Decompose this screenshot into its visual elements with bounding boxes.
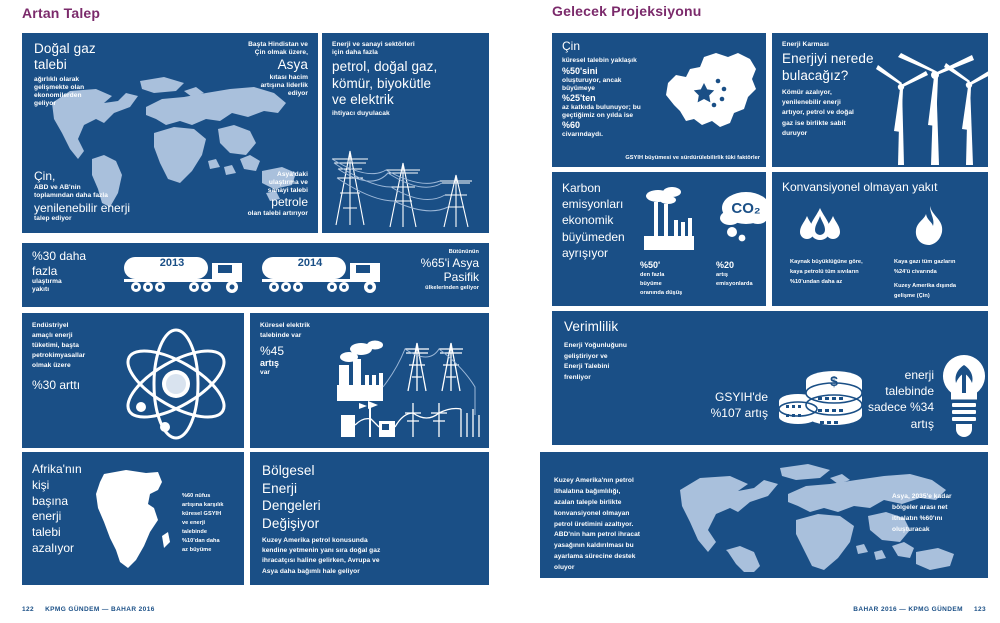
infographic-page: Artan Talep Gelecek Projeksiyonu bbox=[0, 0, 1000, 623]
china-line1: Çin, bbox=[34, 169, 194, 184]
china-proj-l6: civarındaydı. bbox=[562, 131, 672, 139]
china-proj-caption: GSYIH büyümesi ve sürdürülebilirlik tüki… bbox=[600, 155, 760, 162]
footer-right-page: 123 bbox=[974, 606, 986, 613]
pylons-post: ihtiyacı duyulacak bbox=[332, 110, 482, 118]
asia-oil-post: olan talebi artırıyor bbox=[198, 210, 308, 218]
panel-world-map-demand: Doğal gaz talebi ağırlıklı olarak gelişm… bbox=[22, 33, 318, 233]
carbon-stat1-value: %50' bbox=[640, 260, 714, 271]
panel-regional-balance: Bölgesel Enerji Dengeleri Değişiyor Kuze… bbox=[250, 452, 489, 585]
unconventional-title: Konvansiyonel olmayan yakıt bbox=[782, 180, 982, 195]
panel-industrial-energy: Endüstriyel amaçlı enerji tüketimi, başt… bbox=[22, 313, 244, 448]
unconventional-right-body1: Kaya gazı tüm gazların %24'ü civarında bbox=[894, 258, 988, 278]
footer-left-text: KPMG GÜNDEM — BAHAR 2016 bbox=[45, 606, 155, 613]
text-gas-demand: Doğal gaz talebi ağırlıklı olarak gelişm… bbox=[34, 41, 164, 108]
carbon-stat2-sub: artış emisyonlarda bbox=[716, 271, 766, 289]
china-proj-l4: az katkıda bulunuyor; bu bbox=[562, 104, 672, 112]
asia-pre: Başta Hindistan ve Çin olmak üzere, bbox=[188, 41, 308, 57]
oil-drop-icon bbox=[798, 206, 842, 246]
footer-left-page: 122 bbox=[22, 606, 34, 613]
factory-smoke-icon bbox=[640, 186, 700, 262]
panel-carbon-emissions: Karbon emisyonları ekonomik büyümeden ay… bbox=[552, 172, 766, 306]
panel-energy-mix: Enerji Karması Enerjiyi nerede bulacağız… bbox=[772, 33, 988, 167]
footer-left: 122 KPMG GÜNDEM — BAHAR 2016 bbox=[22, 606, 155, 613]
carbon-stat-1: %50' den fazla büyüme oranında düşüş bbox=[640, 260, 714, 298]
lightbulb-icon bbox=[940, 353, 988, 435]
energy-mix-body: Kömür azalıyor, yenilenebilir enerji art… bbox=[782, 88, 887, 139]
china-sub1: ABD ve AB'nin toplamından daha fazla bbox=[34, 184, 194, 200]
unconventional-right-body2: Kuzey Amerika dışında gelişme (Çin) bbox=[894, 282, 988, 302]
co2-cloud-icon: CO₂ bbox=[720, 188, 766, 254]
wind-turbines-icon bbox=[880, 39, 988, 167]
energy-mix-eyebrow: Enerji Karması bbox=[782, 41, 887, 49]
factory-grid-icon bbox=[335, 329, 483, 441]
text-energy-mix: Enerji Karması Enerjiyi nerede bulacağız… bbox=[782, 41, 887, 139]
pylons-pre: Enerji ve sanayi sektörleri için daha fa… bbox=[332, 41, 482, 57]
text-transport-left: %30 daha fazla ulaştırma yakıtı bbox=[32, 249, 122, 294]
bottom-map-left-body: Kuzey Amerika'nın petrol ithalatına bağı… bbox=[554, 476, 672, 574]
footer-right: BAHAR 2016 — KPMG GÜNDEM 123 bbox=[853, 606, 986, 613]
china-proj-l3: büyümeye bbox=[562, 85, 672, 93]
section-title-right: Gelecek Projeksiyonu bbox=[552, 3, 702, 19]
electricity-sub-top: Küresel elektrik talebinde var bbox=[260, 321, 338, 341]
efficiency-gdp-label: GSYIH'de %107 artış bbox=[662, 389, 768, 421]
electricity-sub-bottom: var bbox=[260, 369, 338, 377]
asia-oil-big: petrole bbox=[198, 195, 308, 210]
text-asia-oil: Asya'daki ulaştırma ve sanayi talebi pet… bbox=[198, 171, 308, 218]
power-pylons-icon bbox=[328, 133, 486, 229]
carbon-stat1-sub: den fazla büyüme oranında düşüş bbox=[640, 271, 714, 298]
china-sub2: talep ediyor bbox=[34, 215, 194, 223]
electricity-mid: artış bbox=[260, 358, 338, 369]
gas-demand-line1: Doğal gaz bbox=[34, 41, 164, 57]
china-proj-l1: küresel talebin yaklaşık bbox=[562, 57, 672, 65]
panel-china-projection: Çin küresel talebin yaklaşık %50'sini ol… bbox=[552, 33, 766, 167]
africa-note: %60 nüfus artışına karşılık küresel GSYI… bbox=[182, 492, 242, 555]
china-proj-title: Çin bbox=[562, 39, 672, 54]
energy-mix-big: Enerjiyi nerede bulacağız? bbox=[782, 51, 887, 84]
text-pylons: Enerji ve sanayi sektörleri için daha fa… bbox=[332, 41, 482, 119]
electricity-big: %45 bbox=[260, 344, 338, 359]
text-china-renewable: Çin, ABD ve AB'nin toplamından daha fazl… bbox=[34, 169, 194, 223]
africa-map-icon bbox=[92, 464, 178, 576]
industrial-big: %30 arttı bbox=[32, 378, 117, 393]
footer-right-text: BAHAR 2016 — KPMG GÜNDEM bbox=[853, 606, 963, 613]
text-asia: Başta Hindistan ve Çin olmak üzere, Asya… bbox=[188, 41, 308, 98]
section-title-left: Artan Talep bbox=[22, 5, 100, 21]
atom-icon bbox=[117, 329, 235, 439]
panel-africa: Afrika'nın kişi başına enerji talebi aza… bbox=[22, 452, 244, 585]
asia-pacific-sub-top: Bütününün bbox=[349, 249, 479, 256]
unconventional-left-body: Kaynak büyüklüğüne göre, kaya petrolü tü… bbox=[790, 258, 885, 287]
co2-label: CO₂ bbox=[731, 200, 760, 217]
pylons-big: petrol, doğal gaz, kömür, biyokütle ve e… bbox=[332, 59, 482, 108]
text-electricity: Küresel elektrik talebinde var %45 artış… bbox=[260, 321, 338, 377]
gas-demand-sub: ağırlıklı olarak gelişmekte olan ekonomi… bbox=[34, 76, 164, 108]
china-proj-l5: geçtiğimiz on yılda ise bbox=[562, 112, 672, 120]
carbon-stat-2: %20 artış emisyonlarda bbox=[716, 260, 766, 289]
panel-unconventional-fuel: Konvansiyonel olmayan yakıt Kaynak büyük… bbox=[772, 172, 988, 306]
transport-big: %30 daha fazla bbox=[32, 249, 122, 278]
asia-big: Asya bbox=[188, 57, 308, 73]
text-industrial: Endüstriyel amaçlı enerji tüketimi, başt… bbox=[32, 321, 117, 393]
carbon-big: Karbon emisyonları ekonomik büyümeden ay… bbox=[562, 180, 640, 261]
gas-demand-line2: talebi bbox=[34, 57, 164, 73]
panel-efficiency: Verimlilik Enerji Yoğunluğunu geliştiriy… bbox=[552, 311, 988, 445]
industrial-sub: Endüstriyel amaçlı enerji tüketimi, başt… bbox=[32, 321, 117, 370]
panel-transport-fuel: %30 daha fazla ulaştırma yakıtı bbox=[22, 243, 489, 307]
regional-big: Bölgesel Enerji Dengeleri Değişiyor bbox=[262, 462, 462, 532]
china-map-icon bbox=[660, 47, 764, 141]
china-big: yenilenebilir enerji bbox=[34, 201, 194, 216]
china-proj-pct2: %25'ten bbox=[562, 93, 672, 104]
efficiency-sub: Enerji Yoğunluğunu geliştiriyor ve Enerj… bbox=[564, 341, 674, 383]
text-china-projection: Çin küresel talebin yaklaşık %50'sini ol… bbox=[562, 39, 672, 139]
panel-bottom-world-map: Kuzey Amerika'nın petrol ithalatına bağı… bbox=[540, 452, 988, 578]
panel-electricity-demand: Küresel elektrik talebinde var %45 artış… bbox=[250, 313, 489, 448]
panel-pylons: Enerji ve sanayi sektörleri için daha fa… bbox=[322, 33, 489, 233]
asia-post: kıtası hacim artışına liderlik ediyor bbox=[188, 74, 308, 98]
truck-2013-icon: 2013 bbox=[122, 255, 252, 299]
efficiency-title: Verimlilik bbox=[564, 319, 618, 335]
truck-year-2013: 2013 bbox=[142, 257, 202, 269]
truck-year-2014: 2014 bbox=[280, 257, 340, 269]
transport-sub: ulaştırma yakıtı bbox=[32, 278, 122, 294]
text-transport-right: Bütününün %65'i Asya Pasifik ülkelerinde… bbox=[349, 249, 479, 292]
china-proj-l2: oluşturuyor, ancak bbox=[562, 77, 672, 85]
carbon-stat2-value: %20 bbox=[716, 260, 766, 271]
efficiency-demand-label: enerji talebinde sadece %34 artış bbox=[814, 367, 934, 432]
china-proj-pct1: %50'sini bbox=[562, 66, 672, 77]
china-proj-pct3: %60 bbox=[562, 120, 672, 131]
bottom-map-right-body: Asya, 2035'e kadar bölgeler arası net it… bbox=[892, 492, 978, 536]
regional-body: Kuzey Amerika petrol konusunda kendine y… bbox=[262, 536, 480, 577]
gas-flame-icon bbox=[910, 204, 950, 246]
asia-pacific-sub-bottom: ülkelerinden geliyor bbox=[349, 285, 479, 292]
asia-oil-pre: Asya'daki ulaştırma ve sanayi talebi bbox=[198, 171, 308, 195]
asia-pacific-big: %65'i Asya Pasifik bbox=[349, 256, 479, 285]
